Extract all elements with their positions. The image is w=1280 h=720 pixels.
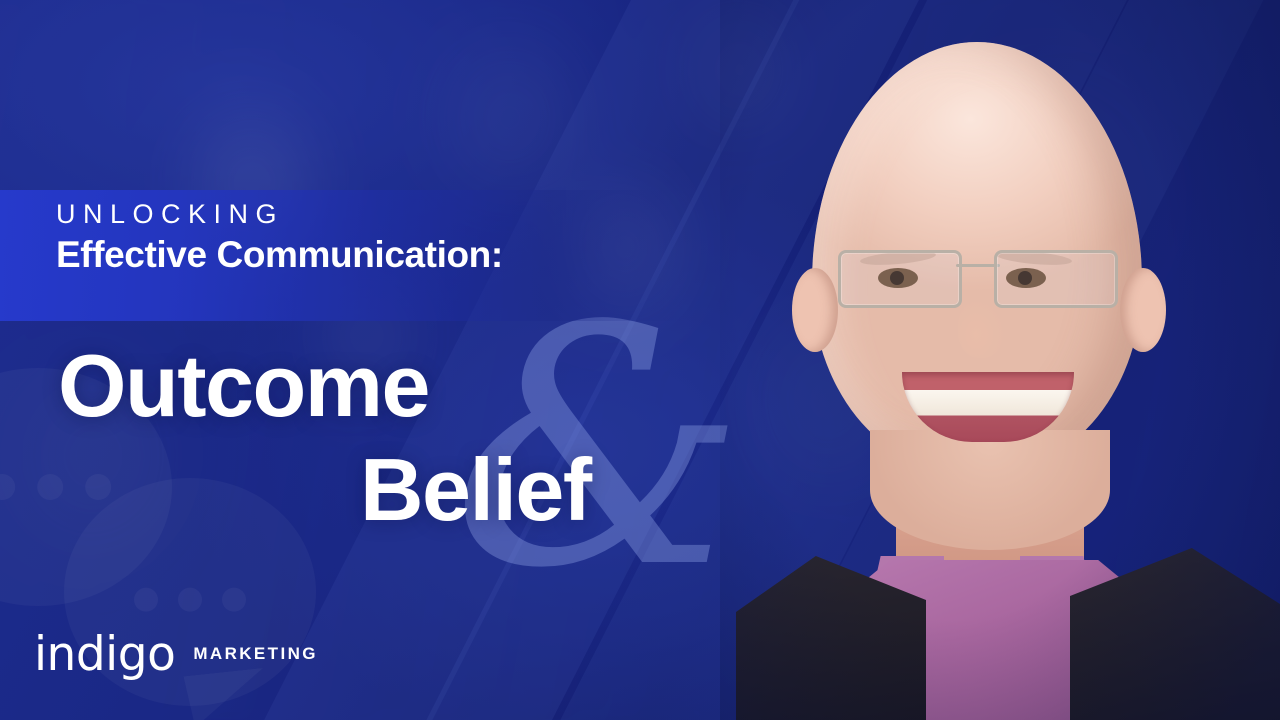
title-band-content: UNLOCKING Effective Communication: (56, 200, 696, 276)
kicker-text: UNLOCKING (56, 200, 696, 230)
glasses-lens-left (838, 250, 962, 308)
subtitle-text: Effective Communication: (56, 234, 696, 277)
bubble-dots (134, 588, 246, 612)
portrait-chin (870, 430, 1110, 550)
headline: Outcome Belief (0, 340, 700, 535)
logo-sub-label: MARKETING (193, 644, 318, 666)
portrait-ear-left (792, 268, 838, 352)
glasses-lens-right (994, 250, 1118, 308)
portrait-nose (958, 300, 1004, 358)
headline-line-1: Outcome (0, 340, 700, 432)
portrait-jacket-right (1070, 524, 1280, 720)
headline-line-2: Belief (0, 444, 700, 536)
title-card: & UNLOCKING Effective Communication: Out… (0, 0, 1280, 720)
speaker-portrait (720, 0, 1280, 720)
portrait-ear-right (1120, 268, 1166, 352)
brand-logo: indigo MARKETING (34, 631, 318, 678)
logo-wordmark: indigo (34, 631, 175, 678)
